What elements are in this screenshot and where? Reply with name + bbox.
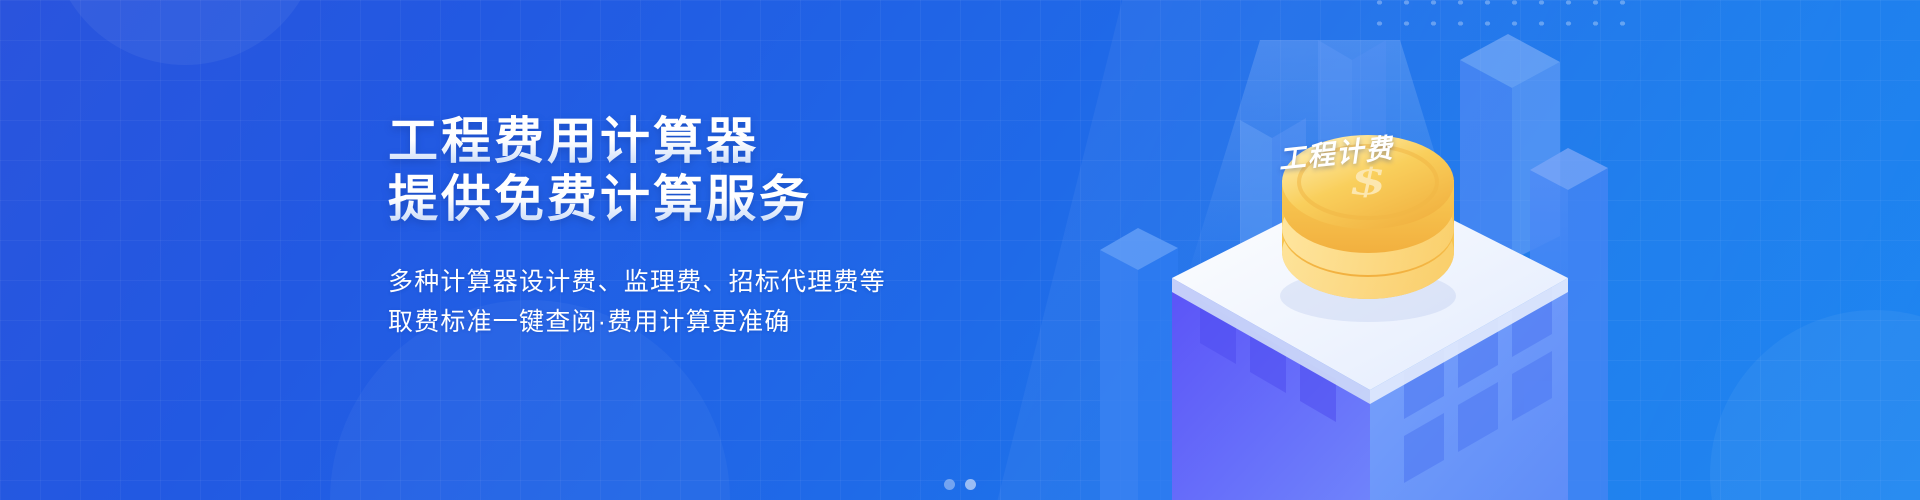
carousel-dot-2[interactable] (965, 479, 976, 490)
decorative-circle-top-left (50, 0, 320, 65)
page-title-line-2: 提供免费计算服务 (388, 170, 1028, 228)
page-title-line-1: 工程费用计算器 (388, 112, 1028, 170)
isometric-city-illustration: $ (1060, 0, 1680, 500)
carousel-dot-1[interactable] (944, 479, 955, 490)
hero-subtitle-line-2: 取费标准一键查阅·费用计算更准确 (388, 302, 1028, 342)
carousel-indicator[interactable] (0, 479, 1920, 490)
hero-subtitle: 多种计算器设计费、监理费、招标代理费等 取费标准一键查阅·费用计算更准确 (388, 262, 1028, 342)
hero-banner: 工程费用计算器 提供免费计算服务 多种计算器设计费、监理费、招标代理费等 取费标… (0, 0, 1920, 500)
hero-subtitle-line-1: 多种计算器设计费、监理费、招标代理费等 (388, 262, 1028, 302)
hero-copy: 工程费用计算器 提供免费计算服务 多种计算器设计费、监理费、招标代理费等 取费标… (388, 112, 1028, 342)
hero-illustration: $ 工程计费 (1060, 0, 1680, 500)
